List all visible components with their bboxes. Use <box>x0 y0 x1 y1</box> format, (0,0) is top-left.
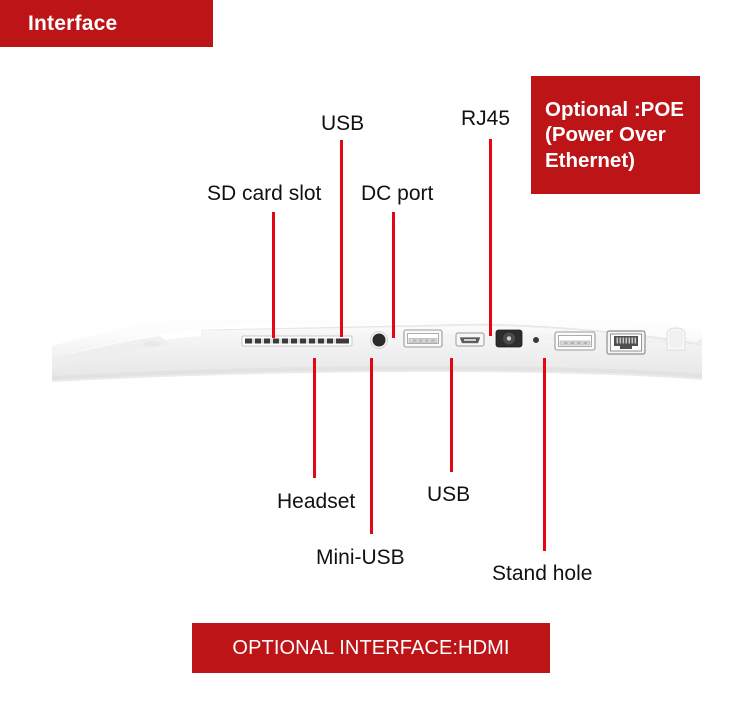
header-banner: Interface <box>0 0 213 47</box>
device-photo <box>52 300 702 404</box>
label-mini-usb: Mini-USB <box>316 547 405 568</box>
headphone-jack-port <box>371 332 388 349</box>
usb-a-port <box>404 330 442 347</box>
label-usb-bottom: USB <box>427 484 470 505</box>
hdmi-optional-banner: OPTIONAL INTERFACE:HDMI <box>192 623 550 673</box>
leader-line-headset <box>313 358 316 478</box>
device-illustration <box>52 300 702 404</box>
poe-banner-line-2: (Power Over <box>545 122 666 147</box>
label-stand-hole: Stand hole <box>492 563 592 584</box>
leader-line-usb-bottom <box>450 358 453 472</box>
leader-line-sd-card-slot <box>272 212 275 338</box>
leader-line-usb-top <box>340 140 343 337</box>
poe-optional-banner: Optional :POE (Power Over Ethernet) <box>531 76 700 194</box>
rj45-ethernet-port <box>607 331 645 354</box>
page-title: Interface <box>28 12 117 36</box>
mini-usb-port <box>456 333 484 346</box>
stand-hole-feature <box>667 328 685 350</box>
usb-a-port-2 <box>555 332 595 350</box>
label-rj45: RJ45 <box>461 108 510 129</box>
label-headset: Headset <box>277 491 355 512</box>
leader-line-dc-port <box>392 212 395 338</box>
leader-line-mini-usb <box>370 358 373 534</box>
dc-power-jack-port <box>496 330 522 347</box>
device-left-dimple <box>143 341 161 347</box>
leader-line-stand-hole <box>543 358 546 551</box>
interface-diagram-page: Interface Optional :POE (Power Over Ethe… <box>0 0 750 718</box>
poe-banner-line-1: Optional :POE <box>545 97 684 122</box>
poe-banner-line-3: Ethernet) <box>545 148 635 173</box>
leader-line-rj45 <box>489 139 492 336</box>
label-dc-port: DC port <box>361 183 433 204</box>
hdmi-banner-text: OPTIONAL INTERFACE:HDMI <box>232 637 509 660</box>
label-sd-card-slot: SD card slot <box>207 183 321 204</box>
label-usb-top: USB <box>321 113 364 134</box>
sd-card-slot-port <box>242 336 352 346</box>
indicator-dot <box>533 337 539 343</box>
